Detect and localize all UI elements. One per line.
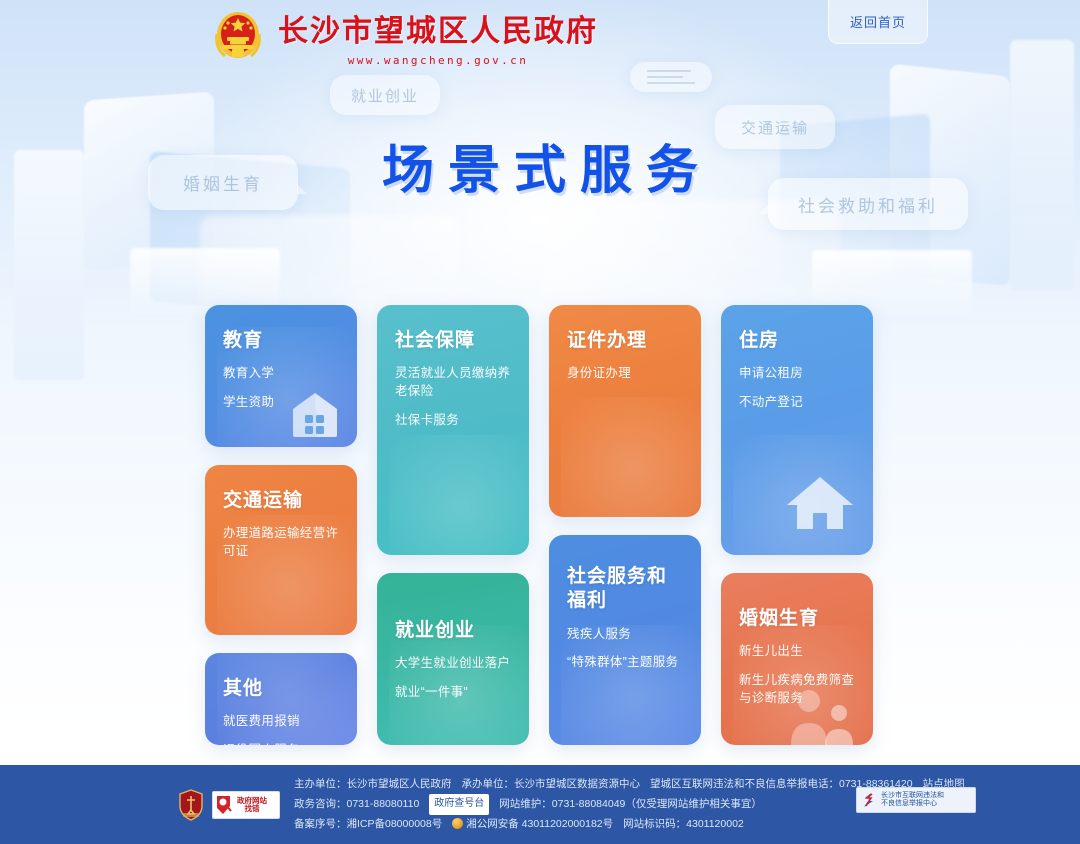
report-badge-line2: 找错 bbox=[237, 805, 267, 813]
card-title: 证件办理 bbox=[567, 329, 683, 353]
footer-directory-button[interactable]: 政府查号台 bbox=[429, 794, 489, 815]
footer-icp-link[interactable]: 备案序号：湘ICP备08000008号 bbox=[294, 815, 442, 834]
internet-badge-line1: 长沙市互联网违法和 bbox=[881, 792, 944, 800]
card-item[interactable]: 残疾人服务 bbox=[567, 626, 683, 644]
footer-police-link[interactable]: 湘公网安备 43011202000182号 bbox=[452, 815, 613, 834]
footer-badge-group: 政府网站 找错 bbox=[178, 789, 280, 821]
card-title: 交通运输 bbox=[223, 489, 339, 513]
footer-maintenance-phone: 网站维护：0731-88084049（仅受理网站维护相关事宜） bbox=[499, 795, 762, 814]
bg-ghost-employment-text: 就业创业 bbox=[351, 85, 419, 106]
footer-site-code: 网站标识码：4301120002 bbox=[623, 815, 744, 834]
national-emblem-icon bbox=[210, 8, 266, 66]
card-item-list: 新生儿出生 新生儿疾病免费筛查与诊断服务 bbox=[739, 643, 855, 707]
card-title: 住房 bbox=[739, 329, 855, 353]
footer-consult-phone: 政务咨询：0731-88080110 bbox=[294, 795, 419, 814]
return-home-button[interactable]: 返回首页 bbox=[828, 0, 928, 44]
site-url: www.wangcheng.gov.cn bbox=[348, 54, 528, 67]
return-home-label: 返回首页 bbox=[850, 12, 906, 31]
card-item[interactable]: 退役军人服务 bbox=[223, 742, 339, 745]
police-badge-icon bbox=[452, 818, 463, 829]
card-column-4: 住房 申请公租房 不动产登记 婚姻生育 新生儿出生 新生儿疾病免费筛查与诊断服务 bbox=[721, 305, 873, 763]
footer-host-unit: 主办单位：长沙市望城区人民政府 bbox=[294, 775, 452, 794]
internet-report-center-badge[interactable]: 长沙市互联网违法和 不良信息举报中心 bbox=[856, 787, 976, 813]
card-item-list: 就医费用报销 退役军人服务 bbox=[223, 713, 339, 745]
service-card-employment[interactable]: 就业创业 大学生就业创业落户 就业“一件事” bbox=[377, 573, 529, 745]
card-item-list: 教育入学 学生资助 bbox=[223, 365, 339, 412]
service-card-welfare[interactable]: 社会服务和福利 残疾人服务 “特殊群体”主题服务 bbox=[549, 535, 701, 745]
card-item-list: 灵活就业人员缴纳养老保险 社保卡服务 bbox=[395, 365, 511, 429]
card-item-list: 残疾人服务 “特殊群体”主题服务 bbox=[567, 626, 683, 673]
site-logo-block[interactable]: 长沙市望城区人民政府 www.wangcheng.gov.cn bbox=[210, 6, 598, 67]
card-item[interactable]: 社保卡服务 bbox=[395, 412, 511, 430]
service-card-housing[interactable]: 住房 申请公租房 不动产登记 bbox=[721, 305, 873, 555]
card-column-3: 证件办理 身份证办理 社会服务和福利 残疾人服务 “特殊群体”主题服务 bbox=[549, 305, 701, 763]
footer-line-3: 备案序号：湘ICP备08000008号 湘公网安备 43011202000182… bbox=[294, 815, 965, 834]
card-title: 其他 bbox=[223, 677, 339, 701]
service-card-social-security[interactable]: 社会保障 灵活就业人员缴纳养老保险 社保卡服务 bbox=[377, 305, 529, 555]
footer-police-text: 湘公网安备 43011202000182号 bbox=[466, 818, 613, 830]
card-item[interactable]: “特殊群体”主题服务 bbox=[567, 654, 683, 672]
footer-undertaker-unit: 承办单位：长沙市望城区数据资源中心 bbox=[462, 775, 641, 794]
internet-badge-text: 长沙市互联网违法和 不良信息举报中心 bbox=[881, 792, 944, 807]
site-footer: 政府网站 找错 主办单位：长沙市望城区人民政府 承办单位：长沙市望城区数据资源中… bbox=[0, 765, 1080, 844]
card-item[interactable]: 就医费用报销 bbox=[223, 713, 339, 731]
card-title: 社会服务和福利 bbox=[567, 565, 683, 614]
card-item-list: 大学生就业创业落户 就业“一件事” bbox=[395, 655, 511, 702]
card-title: 婚姻生育 bbox=[739, 607, 855, 631]
website-error-report-badge[interactable]: 政府网站 找错 bbox=[212, 791, 280, 819]
card-column-2: 社会保障 灵活就业人员缴纳养老保险 社保卡服务 就业创业 大学生就业创业落户 就… bbox=[377, 305, 529, 763]
service-card-education[interactable]: 教育 教育入学 学生资助 bbox=[205, 305, 357, 447]
card-item[interactable]: 新生儿出生 bbox=[739, 643, 855, 661]
card-column-1: 教育 教育入学 学生资助 交通运输 办理道路运输经营许可证 其他 就医费用报销 … bbox=[205, 305, 357, 763]
card-item[interactable]: 大学生就业创业落户 bbox=[395, 655, 511, 673]
site-header: 长沙市望城区人民政府 www.wangcheng.gov.cn 返回首页 bbox=[0, 0, 1080, 72]
card-sheen bbox=[561, 397, 701, 517]
card-item[interactable]: 新生儿疾病免费筛查与诊断服务 bbox=[739, 672, 855, 708]
site-brand: 长沙市望城区人民政府 www.wangcheng.gov.cn bbox=[278, 6, 598, 67]
service-card-transport[interactable]: 交通运输 办理道路运输经营许可证 bbox=[205, 465, 357, 635]
magnifier-icon bbox=[216, 794, 234, 816]
card-item[interactable]: 教育入学 bbox=[223, 365, 339, 383]
card-title: 教育 bbox=[223, 329, 339, 353]
card-sheen bbox=[389, 435, 529, 555]
internet-badge-line2: 不良信息举报中心 bbox=[881, 800, 944, 808]
report-badge-text: 政府网站 找错 bbox=[237, 797, 267, 813]
card-title: 社会保障 bbox=[395, 329, 511, 353]
bg-ghost-label-employment: 就业创业 bbox=[330, 75, 440, 115]
card-item[interactable]: 身份证办理 bbox=[567, 365, 683, 383]
card-title: 就业创业 bbox=[395, 619, 511, 643]
card-item[interactable]: 学生资助 bbox=[223, 394, 339, 412]
home-icon bbox=[785, 471, 855, 533]
service-card-marriage[interactable]: 婚姻生育 新生儿出生 新生儿疾病免费筛查与诊断服务 bbox=[721, 573, 873, 745]
card-item-list: 申请公租房 不动产登记 bbox=[739, 365, 855, 412]
government-shield-badge-icon[interactable] bbox=[178, 789, 204, 821]
swoosh-icon bbox=[861, 792, 877, 808]
service-card-grid: 教育 教育入学 学生资助 交通运输 办理道路运输经营许可证 其他 就医费用报销 … bbox=[205, 305, 875, 745]
bg-ghost-lines bbox=[647, 70, 695, 84]
page-title: 场景式服务 bbox=[0, 128, 1080, 203]
card-item[interactable]: 就业“一件事” bbox=[395, 684, 511, 702]
card-item[interactable]: 灵活就业人员缴纳养老保险 bbox=[395, 365, 511, 401]
site-title: 长沙市望城区人民政府 bbox=[278, 6, 598, 50]
card-item[interactable]: 办理道路运输经营许可证 bbox=[223, 525, 339, 561]
card-item[interactable]: 申请公租房 bbox=[739, 365, 855, 383]
service-card-other[interactable]: 其他 就医费用报销 退役军人服务 bbox=[205, 653, 357, 745]
card-item-list: 身份证办理 bbox=[567, 365, 683, 383]
service-card-certificate[interactable]: 证件办理 身份证办理 bbox=[549, 305, 701, 517]
card-item[interactable]: 不动产登记 bbox=[739, 394, 855, 412]
card-item-list: 办理道路运输经营许可证 bbox=[223, 525, 339, 561]
